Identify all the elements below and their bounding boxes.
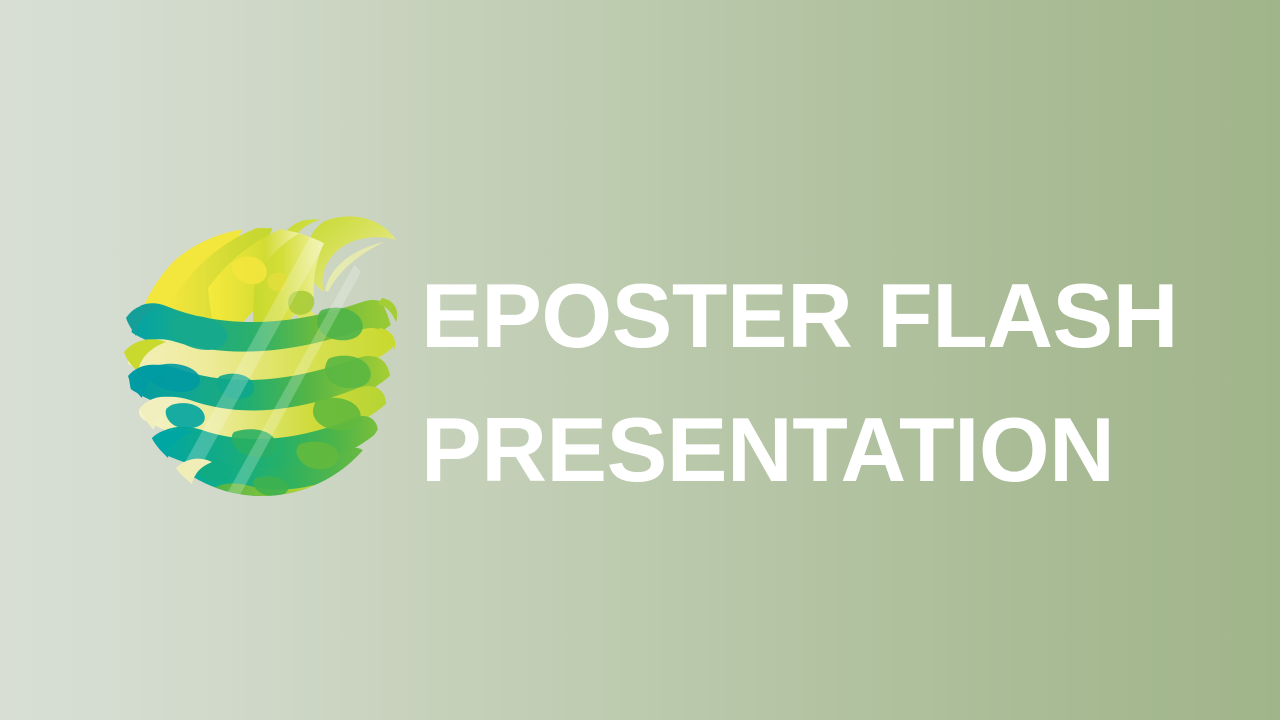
title-line-2: PRESENTATION — [421, 384, 1221, 518]
title-line-1: EPOSTER FLASH — [421, 250, 1221, 384]
globe-band-stack — [124, 218, 394, 508]
page-title: EPOSTER FLASH PRESENTATION — [421, 250, 1221, 518]
globe-ribbon-leaf-logo — [124, 200, 400, 512]
slide-canvas: EPOSTER FLASH PRESENTATION — [0, 0, 1280, 720]
globe-ribbons — [124, 216, 397, 508]
